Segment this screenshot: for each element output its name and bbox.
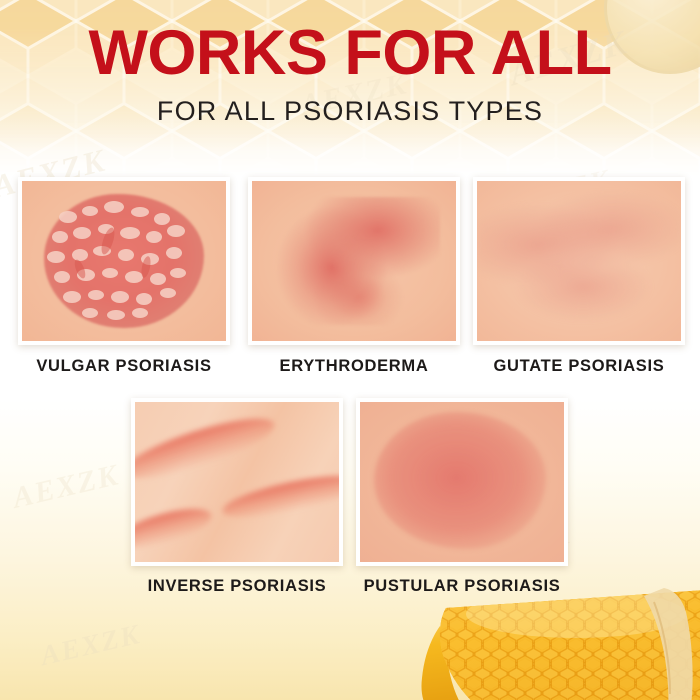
psoriasis-caption-vulgar: VULGAR PSORIASIS (18, 358, 230, 375)
psoriasis-photo-pustular (360, 402, 564, 562)
psoriasis-caption-inverse: INVERSE PSORIASIS (131, 578, 343, 595)
poster-canvas: AEXZK AEXZK AEXZK AEXZK AEXZK AEXZK AEXZ… (0, 0, 700, 700)
psoriasis-caption-gutate: GUTATE PSORIASIS (473, 358, 685, 375)
psoriasis-caption-erythroderma: ERYTHRODERMA (248, 358, 460, 375)
psoriasis-photo-inverse (135, 402, 339, 562)
page-title: WORKS FOR ALL (0, 22, 700, 85)
psoriasis-photo-vulgar (22, 181, 226, 341)
psoriasis-photo-erythroderma (252, 181, 456, 341)
psoriasis-card-inverse[interactable] (131, 398, 343, 566)
psoriasis-card-pustular[interactable] (356, 398, 568, 566)
psoriasis-card-gutate[interactable] (473, 177, 685, 345)
honeycomb-slab (406, 586, 700, 700)
psoriasis-photo-gutate (477, 181, 681, 341)
psoriasis-card-erythroderma[interactable] (248, 177, 460, 345)
page-subtitle: FOR ALL PSORIASIS TYPES (0, 98, 700, 125)
scale-texture (22, 181, 226, 341)
psoriasis-card-vulgar[interactable] (18, 177, 230, 345)
